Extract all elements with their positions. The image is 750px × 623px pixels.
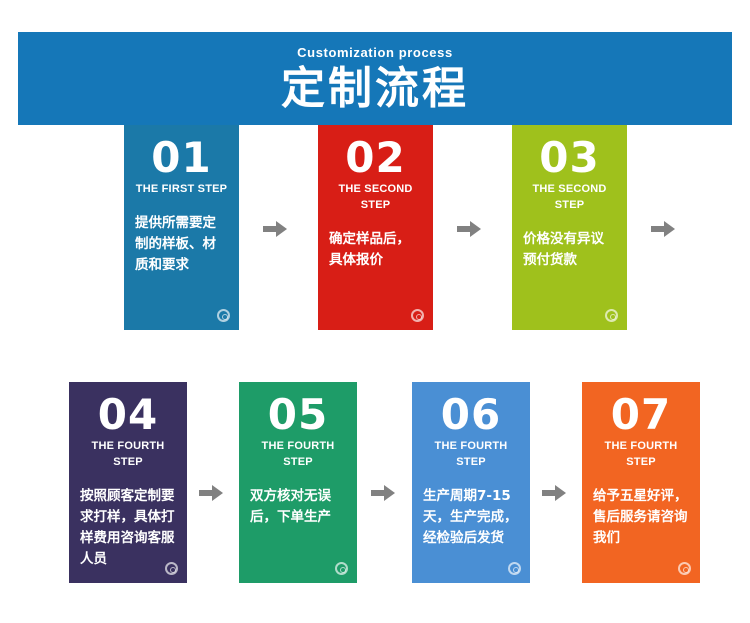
arrow-right-icon-1: [262, 218, 288, 240]
step-number: 06: [423, 392, 519, 438]
step-card-03[interactable]: 03 THE SECOND STEP 价格没有异议预付货款: [512, 125, 627, 330]
circle-mark-icon: [605, 309, 618, 322]
step-description: 按照顾客定制要求打样，具体打样费用咨询客服人员: [80, 470, 176, 570]
step-card-04[interactable]: 04 THE FOURTH STEP 按照顾客定制要求打样，具体打样费用咨询客服…: [69, 382, 187, 583]
step-card-05[interactable]: 05 THE FOURTH STEP 双方核对无误后，下单生产: [239, 382, 357, 583]
step-card-02[interactable]: 02 THE SECOND STEP 确定样品后，具体报价: [318, 125, 433, 330]
step-description: 生产周期7-15天，生产完成，经检验后发货: [423, 470, 519, 549]
circle-mark-icon: [678, 562, 691, 575]
arrow-right-icon-4: [198, 482, 224, 504]
circle-mark-icon: [508, 562, 521, 575]
step-number: 05: [250, 392, 346, 438]
arrow-right-icon-2: [456, 218, 482, 240]
banner-title: 定制流程: [18, 61, 732, 115]
step-label: THE FOURTH STEP: [423, 438, 519, 470]
step-description: 价格没有异议预付货款: [523, 213, 616, 271]
step-number: 07: [593, 392, 689, 438]
arrow-right-icon-6: [541, 482, 567, 504]
circle-mark-icon: [411, 309, 424, 322]
arrow-right-icon-5: [370, 482, 396, 504]
circle-mark-icon: [335, 562, 348, 575]
step-label: THE FOURTH STEP: [593, 438, 689, 470]
step-number: 04: [80, 392, 176, 438]
step-label: THE FOURTH STEP: [80, 438, 176, 470]
step-description: 提供所需要定制的样板、材质和要求: [135, 197, 228, 276]
step-label: THE SECOND STEP: [523, 181, 616, 213]
step-card-07[interactable]: 07 THE FOURTH STEP 给予五星好评，售后服务请咨询我们: [582, 382, 700, 583]
step-description: 给予五星好评，售后服务请咨询我们: [593, 470, 689, 549]
step-number: 02: [329, 135, 422, 181]
step-number: 01: [135, 135, 228, 181]
header-banner: Customization process 定制流程: [18, 32, 732, 125]
step-label: THE FIRST STEP: [135, 181, 228, 197]
step-label: THE FOURTH STEP: [250, 438, 346, 470]
step-label: THE SECOND STEP: [329, 181, 422, 213]
step-description: 确定样品后，具体报价: [329, 213, 422, 271]
circle-mark-icon: [165, 562, 178, 575]
step-number: 03: [523, 135, 616, 181]
banner-subtitle: Customization process: [18, 32, 732, 61]
arrow-right-icon-3: [650, 218, 676, 240]
circle-mark-icon: [217, 309, 230, 322]
step-card-06[interactable]: 06 THE FOURTH STEP 生产周期7-15天，生产完成，经检验后发货: [412, 382, 530, 583]
step-description: 双方核对无误后，下单生产: [250, 470, 346, 528]
step-card-01[interactable]: 01 THE FIRST STEP 提供所需要定制的样板、材质和要求: [124, 125, 239, 330]
